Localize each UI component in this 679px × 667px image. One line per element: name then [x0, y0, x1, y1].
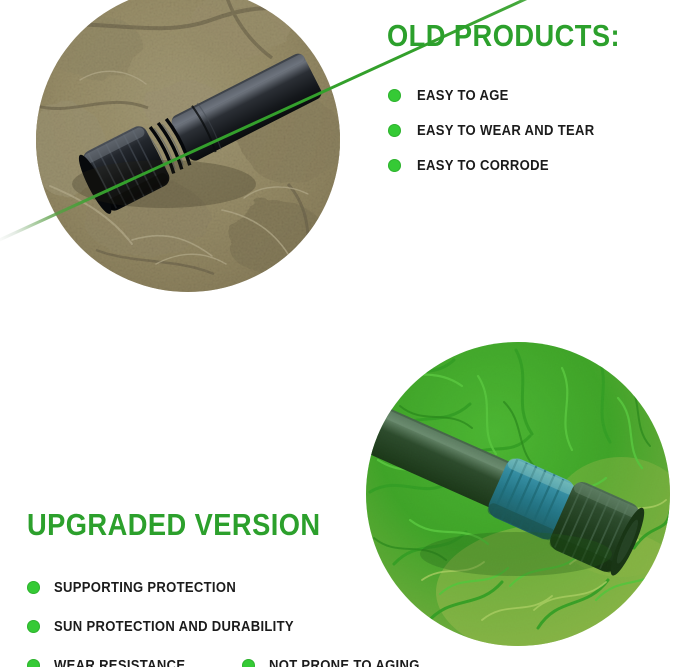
old-product-photo-art — [36, 0, 340, 292]
bullet-dot-icon — [388, 124, 401, 137]
list-row: SUPPORTING PROTECTION — [27, 568, 436, 607]
list-item-label: SUPPORTING PROTECTION — [54, 580, 236, 596]
list-row: EASY TO WEAR AND TEAR — [388, 113, 614, 148]
list-item: SUPPORTING PROTECTION — [27, 580, 256, 596]
list-item-label: WEAR RESISTANCE — [54, 658, 185, 667]
old-product-photo — [36, 0, 340, 292]
list-item: EASY TO AGE — [388, 88, 519, 104]
bullet-dot-icon — [242, 659, 255, 667]
list-item-label: EASY TO CORRODE — [417, 158, 549, 174]
bullet-dot-icon — [388, 89, 401, 102]
old-products-heading-text: OLD PRODUCTS — [387, 18, 611, 53]
list-item: SUN PROTECTION AND DURABILITY — [27, 619, 321, 635]
bullet-dot-icon — [27, 620, 40, 633]
bullet-dot-icon — [388, 159, 401, 172]
list-row: SUN PROTECTION AND DURABILITY — [27, 607, 436, 646]
list-item-label: EASY TO AGE — [417, 88, 509, 104]
list-item-label: NOT PRONE TO AGING — [269, 658, 420, 667]
upgraded-version-heading-text: UPGRADED VERSION — [27, 507, 321, 542]
upgraded-version-heading: UPGRADED VERSION — [27, 507, 321, 543]
list-row: EASY TO CORRODE — [388, 148, 614, 183]
list-row: EASY TO AGE — [388, 78, 614, 113]
list-item: WEAR RESISTANCE — [27, 658, 200, 667]
list-item: EASY TO WEAR AND TEAR — [388, 123, 614, 139]
list-item-label: EASY TO WEAR AND TEAR — [417, 123, 594, 139]
old-products-heading-colon: : — [611, 18, 620, 53]
list-row: WEAR RESISTANCE NOT PRONE TO AGING — [27, 646, 436, 667]
old-products-heading: OLD PRODUCTS: — [387, 18, 620, 54]
bullet-dot-icon — [27, 659, 40, 667]
list-item-label: SUN PROTECTION AND DURABILITY — [54, 619, 294, 635]
comparison-infographic: OLD PRODUCTS: EASY TO AGE EASY TO WEAR A… — [0, 0, 679, 667]
list-item: EASY TO CORRODE — [388, 158, 564, 174]
list-item: NOT PRONE TO AGING — [242, 658, 436, 667]
upgraded-version-feature-list: SUPPORTING PROTECTION SUN PROTECTION AND… — [27, 568, 436, 667]
old-products-feature-list: EASY TO AGE EASY TO WEAR AND TEAR EASY T… — [388, 78, 614, 183]
bullet-dot-icon — [27, 581, 40, 594]
